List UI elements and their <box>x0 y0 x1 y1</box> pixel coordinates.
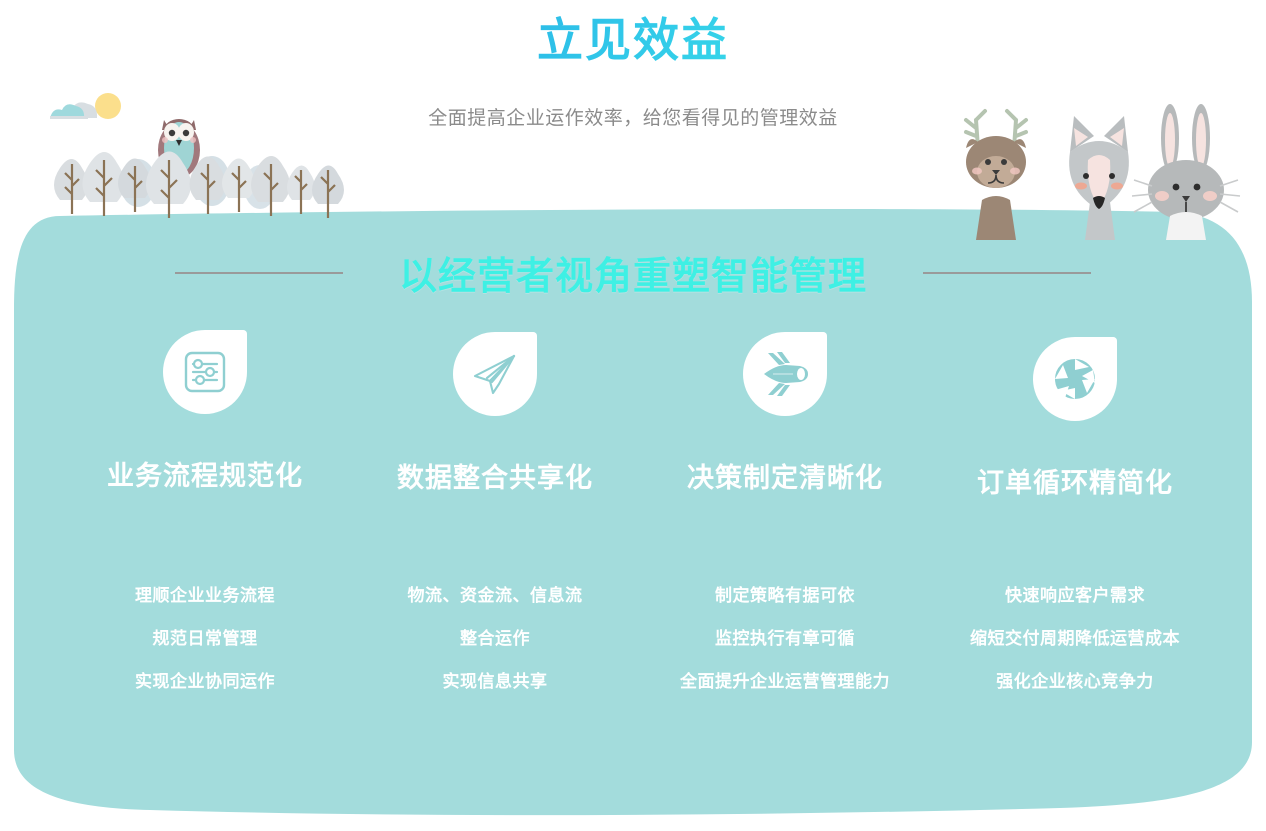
feature-card-decision-making[interactable]: 决策制定清晰化 制定策略有据可依 监控执行有章可循 全面提升企业运营管理能力 <box>640 330 930 692</box>
page-subtitle: 全面提高企业运作效率，给您看得见的管理效益 <box>0 104 1266 134</box>
feature-line-list: 理顺企业业务流程 规范日常管理 实现企业协同运作 <box>135 581 275 692</box>
feature-line: 快速响应客户需求 <box>1005 581 1145 606</box>
feature-line-list: 物流、资金流、信息流 整合运作 实现信息共享 <box>408 581 583 692</box>
feature-line: 实现信息共享 <box>443 667 548 692</box>
feature-icon-badge <box>163 330 247 414</box>
feature-title: 决策制定清晰化 <box>687 456 883 495</box>
feature-line: 强化企业核心竞争力 <box>996 667 1154 692</box>
feature-line: 制定策略有据可依 <box>715 581 855 606</box>
feature-line-list: 快速响应客户需求 缩短交付周期降低运营成本 强化企业核心竞争力 <box>970 581 1180 692</box>
divider-right <box>923 272 1091 274</box>
paper-plane-icon <box>470 349 520 399</box>
section-title: 以经营者视角重塑智能管理 <box>399 245 867 300</box>
space-shuttle-icon <box>759 351 811 397</box>
feature-card-business-process[interactable]: 业务流程规范化 理顺企业业务流程 规范日常管理 实现企业协同运作 <box>60 330 350 692</box>
feature-title: 数据整合共享化 <box>397 456 593 495</box>
feature-line: 规范日常管理 <box>153 624 258 649</box>
camera-aperture-icon <box>1049 353 1101 405</box>
feature-columns: 业务流程规范化 理顺企业业务流程 规范日常管理 实现企业协同运作 数 <box>60 330 1220 692</box>
feature-icon-badge <box>743 332 827 416</box>
feature-panel: 以经营者视角重塑智能管理 业务流程规范化 理顺企业业务流程 规范日常管理 <box>0 190 1266 826</box>
feature-line: 监控执行有章可循 <box>715 624 855 649</box>
divider-left <box>175 272 343 274</box>
feature-title: 订单循环精简化 <box>977 461 1173 500</box>
feature-card-order-cycle[interactable]: 订单循环精简化 快速响应客户需求 缩短交付周期降低运营成本 强化企业核心竞争力 <box>930 330 1220 692</box>
feature-card-data-integration[interactable]: 数据整合共享化 物流、资金流、信息流 整合运作 实现信息共享 <box>350 330 640 692</box>
feature-line: 实现企业协同运作 <box>135 667 275 692</box>
feature-line: 物流、资金流、信息流 <box>408 581 583 606</box>
page-title: 立见效益 <box>0 8 1266 72</box>
sliders-settings-icon <box>181 348 229 396</box>
feature-icon-badge <box>1033 337 1117 421</box>
feature-line: 全面提升企业运营管理能力 <box>680 667 890 692</box>
feature-line: 整合运作 <box>460 624 530 649</box>
feature-title: 业务流程规范化 <box>107 454 303 493</box>
feature-icon-badge <box>453 332 537 416</box>
feature-line: 缩短交付周期降低运营成本 <box>970 624 1180 649</box>
section-heading-row: 以经营者视角重塑智能管理 <box>0 245 1266 300</box>
feature-line: 理顺企业业务流程 <box>135 581 275 606</box>
feature-line-list: 制定策略有据可依 监控执行有章可循 全面提升企业运营管理能力 <box>680 581 890 692</box>
